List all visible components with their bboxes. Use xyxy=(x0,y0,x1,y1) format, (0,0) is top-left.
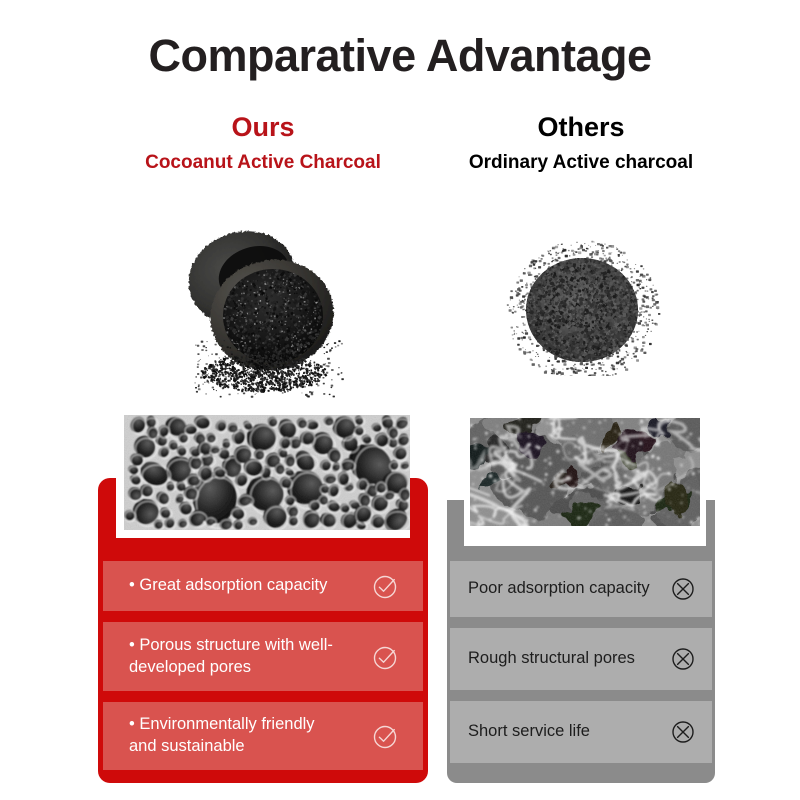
drawback-text: Poor adsorption capacity xyxy=(468,578,662,600)
column-heading-ours: Ours xyxy=(98,113,428,143)
coconut-shell-charcoal-illustration xyxy=(168,212,363,402)
feature-bullet: • xyxy=(129,715,135,733)
feature-row[interactable]: • Porous structure with well- developed … xyxy=(103,622,423,691)
feature-list-others: Poor adsorption capacity Rough structura… xyxy=(450,561,712,774)
feature-line-1: Porous structure with well- xyxy=(139,636,332,654)
page-title: Comparative Advantage xyxy=(0,30,800,82)
feature-bullet: • xyxy=(129,576,135,594)
check-circle-icon xyxy=(371,571,401,601)
dense-structure-micrograph xyxy=(470,418,700,526)
feature-bullet: • xyxy=(129,636,135,654)
drawback-text: Rough structural pores xyxy=(468,648,662,670)
product-photo-ordinary-charcoal xyxy=(502,236,662,376)
micrograph-others xyxy=(470,418,700,526)
feature-row[interactable]: • Environmentally friendly and sustainab… xyxy=(103,702,423,770)
column-header-others: Others Ordinary Active charcoal xyxy=(447,113,715,174)
feature-list-ours: • Great adsorption capacity • Porous str… xyxy=(103,561,423,781)
charcoal-powder-pile-illustration xyxy=(502,236,662,376)
column-subheading-others: Ordinary Active charcoal xyxy=(447,153,715,174)
column-subheading-ours: Cocoanut Active Charcoal xyxy=(98,153,428,174)
drawback-row[interactable]: Poor adsorption capacity xyxy=(450,561,712,617)
feature-line-1: Environmentally friendly xyxy=(139,715,314,733)
drawback-line-1: Rough structural pores xyxy=(468,648,662,670)
column-header-ours: Ours Cocoanut Active Charcoal xyxy=(98,113,428,174)
check-circle-icon xyxy=(371,721,401,751)
x-circle-icon xyxy=(670,719,696,745)
product-photo-coconut-charcoal xyxy=(168,212,363,402)
x-circle-icon xyxy=(670,646,696,672)
feature-text: • Environmentally friendly and sustainab… xyxy=(129,714,363,758)
drawback-row[interactable]: Rough structural pores xyxy=(450,628,712,690)
feature-row[interactable]: • Great adsorption capacity xyxy=(103,561,423,611)
drawback-text: Short service life xyxy=(468,721,662,743)
porous-structure-micrograph xyxy=(124,415,410,530)
feature-text: • Great adsorption capacity xyxy=(129,575,363,597)
drawback-row[interactable]: Short service life xyxy=(450,701,712,763)
infographic-page: Comparative Advantage Ours Cocoanut Acti… xyxy=(0,0,800,800)
drawback-line-1: Short service life xyxy=(468,721,662,743)
x-circle-icon xyxy=(670,576,696,602)
feature-line-2: and sustainable xyxy=(129,736,363,758)
feature-line-2: developed pores xyxy=(129,657,363,679)
column-heading-others: Others xyxy=(447,113,715,143)
check-circle-icon xyxy=(371,642,401,672)
micrograph-ours xyxy=(124,415,410,530)
feature-line-1: Great adsorption capacity xyxy=(139,576,327,594)
feature-text: • Porous structure with well- developed … xyxy=(129,635,363,679)
drawback-line-1: Poor adsorption capacity xyxy=(468,578,662,600)
